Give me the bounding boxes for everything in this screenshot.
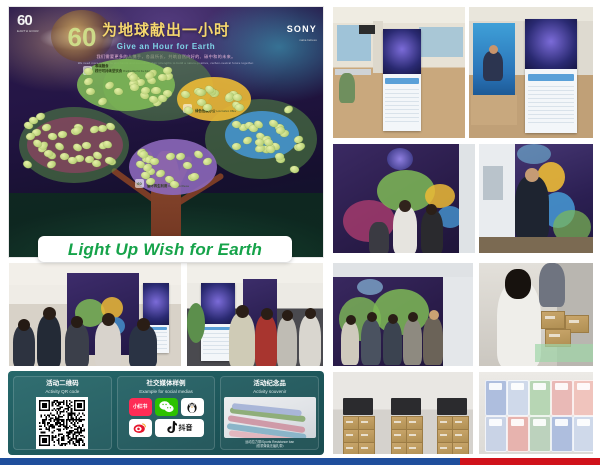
attendee-head [18,319,30,331]
xiaohongshu-label: 小红书 [133,403,147,410]
attendee [129,325,157,367]
box-label [394,421,401,423]
souvenir-panel-title-en: Activity souvenir [253,389,286,394]
attendee [539,263,565,307]
wish-leaf [196,89,205,96]
box-label [361,447,368,449]
poster-title-en: Give an Hour for Earth [9,42,323,52]
bubble-label-en: Low Carbon Office [216,110,236,113]
packaged-resistance-band [507,416,529,452]
weibo-eye-glyph [133,422,147,434]
staff-head [388,314,398,324]
packaged-resistance-band [573,380,594,416]
photo-queue-standee [186,262,324,367]
social-panel-title-en: Example for social medias [139,389,193,394]
staff [423,317,443,365]
douyin-icon[interactable]: 抖音 [155,419,204,437]
photo-souvenir-handout [478,262,594,367]
packaged-resistance-band [551,416,573,452]
banner-artwork-top [383,29,421,74]
chair [339,73,355,103]
photo-wall-mural-wishes [332,143,476,254]
activity-qr-code[interactable] [36,397,88,449]
banner-artwork-top [201,283,235,324]
packaged-resistance-band [485,416,507,452]
staff [403,319,422,365]
social-panel-title-cn: 社交媒体样例 [147,380,186,388]
band-package-tag [533,383,546,390]
band-package-tag [577,383,590,390]
wish-leaf [82,142,91,149]
wish-leaf [235,104,244,111]
souvenir-box [541,311,565,329]
attendee-head [426,204,437,215]
poster-title-cn: 为地球献出一小时 [9,23,323,40]
social-icon-grid: 小红书 [127,398,205,437]
staff [383,321,402,365]
attendee-head [102,313,115,326]
box-label [440,447,447,449]
box-label [409,421,416,423]
wish-leaf [232,143,241,150]
plant [187,303,205,343]
attendee [393,206,417,254]
box-label [361,434,368,436]
qr-panel-title-en: Activity QR code [45,389,79,394]
packaged-resistance-band [529,380,551,416]
table [335,69,371,75]
bubble-label-cn2: 践行可持续型饮食 [95,69,122,73]
slide-canvas: 60 EARTH HOUR 60 SONY make.believe 为地球献出… [0,0,600,465]
attendee [369,222,389,254]
box-label [346,421,353,423]
mural-60-mark [387,148,413,170]
band-package-tag [577,419,590,426]
poster-title-block: 为地球献出一小时 Give an Hour for Earth [9,23,323,51]
box-label [455,447,462,449]
mural-60-mark [357,279,383,295]
band-package-tag [555,419,568,426]
band-package-tag [555,383,568,390]
bubble-60-badge: 60 [135,179,144,188]
douyin-note-glyph [166,421,177,434]
carton-box [452,442,469,455]
kiosk-base [471,95,517,125]
qr-panel-title-cn: 活动二维码 [46,380,79,388]
souvenir-caption-line2: （双重弹簧无痕礼带） [254,444,286,448]
equipment-case [343,398,373,415]
screen-presenter-head [489,45,498,54]
executive-head [525,168,539,182]
attendee-head [282,310,293,321]
attendee [277,317,297,367]
box-label [394,434,401,436]
souvenir-product-photo [224,397,316,438]
packaged-resistance-band [529,416,551,452]
attendee [13,325,35,367]
banner-text: Light Up Wish for Earth [68,241,262,258]
attendee-head [261,308,273,320]
footer-blue-segment [0,458,460,465]
box-label [440,421,447,423]
qr-code-svg [39,400,85,446]
attendee [65,323,89,367]
equipment-case [437,398,467,415]
souvenir-bags [535,344,593,362]
ceiling [333,263,473,277]
souvenir-panel: 活动纪念品 Activity souvenir 运动拉力带/Sports Res… [220,376,319,450]
roll-up-banner [525,19,577,133]
footer-red-segment [460,458,600,465]
wall-right [443,263,474,367]
attendee [37,315,61,367]
attendee-head [71,316,83,328]
attendee [95,321,121,367]
photo-digital-signage [468,6,594,139]
photo-lobby-standee [332,6,466,139]
attendee-head [399,200,411,212]
box-tape [545,316,555,319]
qq-penguin-glyph [186,400,198,414]
packaged-resistance-band [573,416,594,452]
wechat-icon[interactable] [155,398,178,416]
banner-artwork-bottom [525,69,577,133]
xiaohongshu-icon[interactable]: 小红书 [129,398,152,416]
douyin-label: 抖音 [179,423,193,433]
attendee [299,315,321,367]
screen-presenter [483,51,503,81]
band-package-tag [489,383,502,390]
mural-60-mark [517,144,551,164]
box-tape [549,334,560,337]
souvenir-caption: 运动拉力带/Sports Resistance ban （双重弹簧无痕礼带） [245,440,294,449]
wish-bubble-green-label: 零碳膳食 践行可持续型饮食 Practice Diet for the Futu… [95,64,152,74]
wall-monitor [359,25,375,34]
wechat-glyph [159,401,174,413]
slide-banner: Light Up Wish for Earth [38,236,292,262]
band-package-tag [533,419,546,426]
packaged-resistance-band [485,380,507,416]
attendee-head [43,307,56,320]
qr-panel: 活动二维码 Activity QR code [13,376,112,450]
banner-artwork-top [525,19,577,69]
box-label [409,447,416,449]
staff-head [346,315,356,325]
photo-group-photo [332,262,474,367]
equipment-case [391,398,421,415]
floor [479,237,593,253]
attendee-head [305,308,316,319]
box-tape [569,320,579,323]
social-media-panel: 社交媒体样例 Example for social medias 小红书 [117,376,216,450]
attendee [421,210,443,254]
footer-bar [0,458,600,465]
photo-crowd-corridor [8,262,182,367]
photo-executive-sticker [478,143,594,254]
attendee-head [236,305,249,318]
staff-head [429,310,439,320]
event-poster-image: 60 EARTH HOUR 60 SONY make.believe 为地球献出… [8,6,324,258]
info-card: 活动二维码 Activity QR code 社交媒体样例 Example fo… [8,371,324,455]
box-label [455,434,462,436]
qq-icon[interactable] [181,398,204,416]
box-label [440,434,447,436]
photo-stacked-boxes [332,371,474,455]
attendee [255,315,277,367]
attendee-hair [505,269,531,299]
door-frame [483,166,503,200]
band-package-tag [511,419,524,426]
staff-head [408,312,418,322]
wish-leaf [275,153,284,160]
box-label [394,447,401,449]
packaged-resistance-band [507,380,529,416]
staff [341,321,359,365]
wish-bubble-purple-label: 循环再生利用 Recycle and Reuse [147,184,189,189]
weibo-icon[interactable] [129,419,152,437]
window [419,27,463,57]
wish-bubble-yellow-label: 绿色低碳办公 Low Carbon Office [195,109,236,114]
attendee-head [137,318,150,331]
staff-head [367,312,377,322]
wish-leaf [140,86,150,94]
ceiling [333,7,465,23]
roll-up-banner [383,29,421,131]
band-package-tag [489,419,502,426]
box-label [346,434,353,436]
box-label [455,421,462,423]
staff [361,319,381,365]
banner-artwork-bottom [383,74,421,131]
box-label [361,421,368,423]
packaged-resistance-band [551,380,573,416]
band-package-tag [511,383,524,390]
attendee [229,313,255,367]
box-label [409,434,416,436]
box-label [346,447,353,449]
executive [515,176,549,240]
carton-box [358,442,375,455]
bubble-label-cn: 零碳膳食 [95,64,109,68]
wall-edge [459,144,476,254]
photo-resistance-bands [478,371,594,455]
carton-box [406,442,423,455]
souvenir-panel-title-cn: 活动纪念品 [253,380,286,388]
